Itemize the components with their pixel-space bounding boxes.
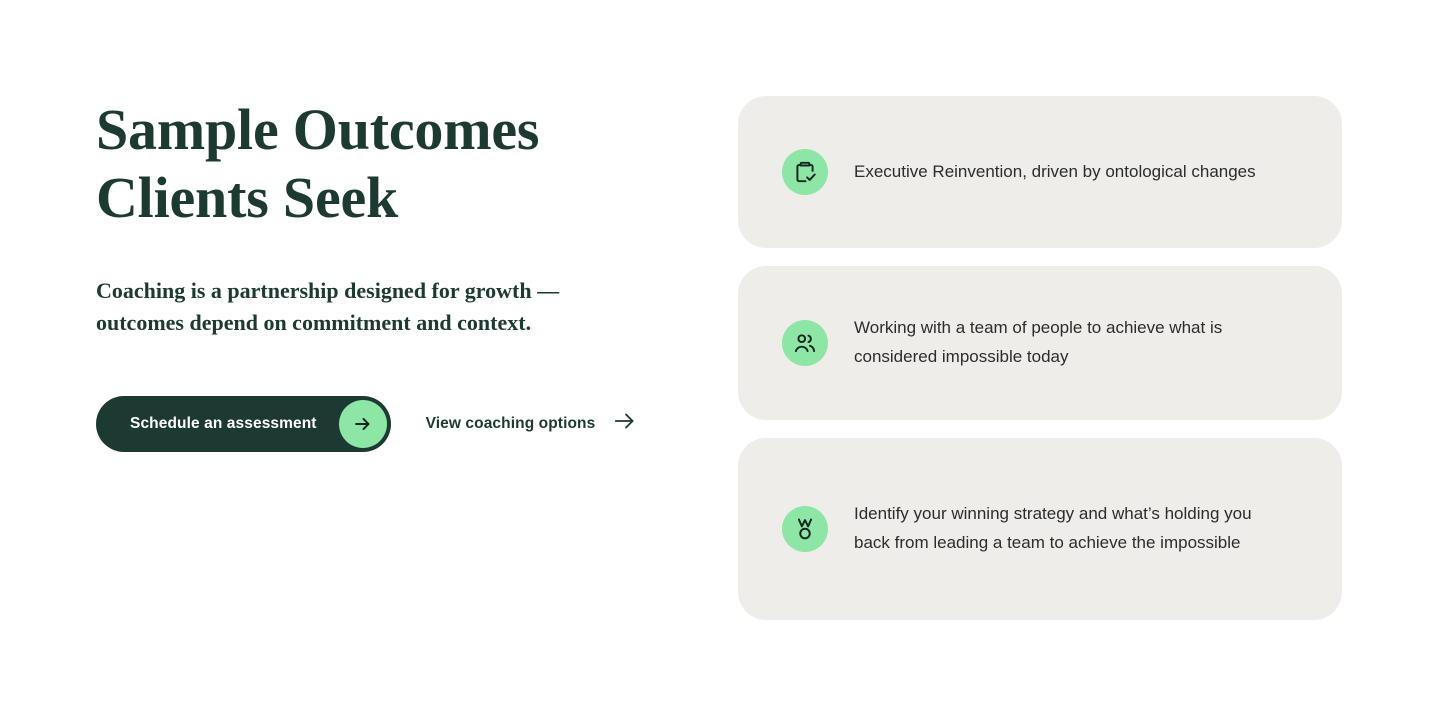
outcome-cards-list: Executive Reinvention, driven by ontolog… [738, 96, 1342, 620]
page-title: Sample Outcomes Clients Seek [96, 96, 566, 232]
hero-copy-column: Sample Outcomes Clients Seek Coaching is… [96, 96, 676, 452]
outcome-card[interactable]: Executive Reinvention, driven by ontolog… [738, 96, 1342, 248]
cta-row: Schedule an assessment View coaching opt… [96, 339, 676, 452]
arrow-right-icon [339, 400, 387, 448]
clipboard-check-icon [782, 149, 828, 195]
outcome-card-text: Executive Reinvention, driven by ontolog… [854, 158, 1256, 187]
users-group-icon [782, 320, 828, 366]
schedule-an-assessment-label: Schedule an assessment [130, 415, 317, 433]
schedule-an-assessment-button[interactable]: Schedule an assessment [96, 396, 391, 452]
outcomes-section: Sample Outcomes Clients Seek Coaching is… [0, 0, 1440, 708]
outcome-card-text: Working with a team of people to achieve… [854, 314, 1286, 371]
outcome-card-text: Identify your winning strategy and what’… [854, 500, 1286, 557]
outcome-card[interactable]: Identify your winning strategy and what’… [738, 438, 1342, 620]
arrow-right-icon [612, 408, 638, 439]
medal-icon [782, 506, 828, 552]
view-coaching-options-link[interactable]: View coaching options [426, 408, 639, 439]
hero-subtitle: Coaching is a partnership designed for g… [96, 232, 641, 339]
view-coaching-options-label: View coaching options [426, 415, 596, 433]
outcome-card[interactable]: Working with a team of people to achieve… [738, 266, 1342, 420]
